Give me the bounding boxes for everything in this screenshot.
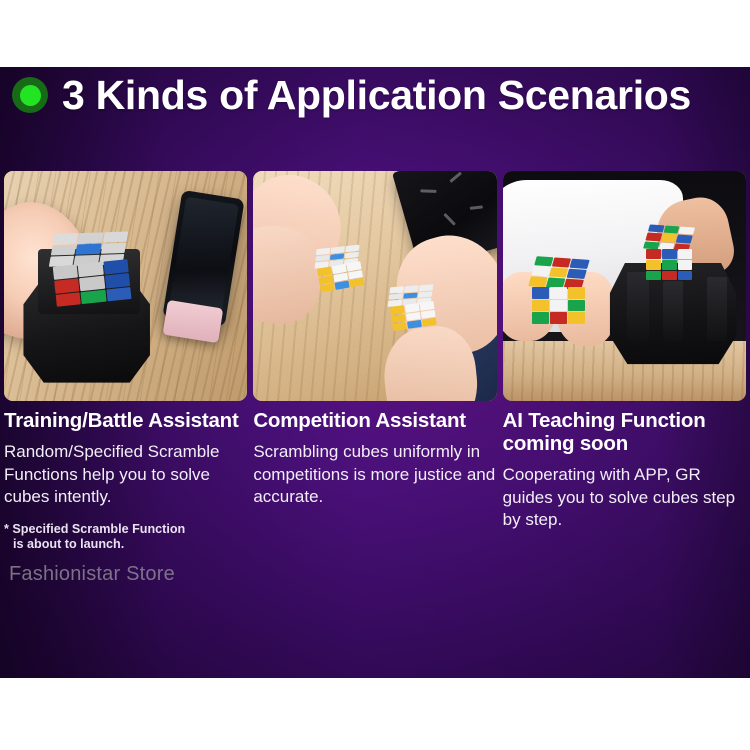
- purple-banner-background: [0, 67, 750, 678]
- banner-inner: [0, 67, 750, 678]
- promo-banner-page: 3 Kinds of Application Scenarios: [0, 0, 750, 750]
